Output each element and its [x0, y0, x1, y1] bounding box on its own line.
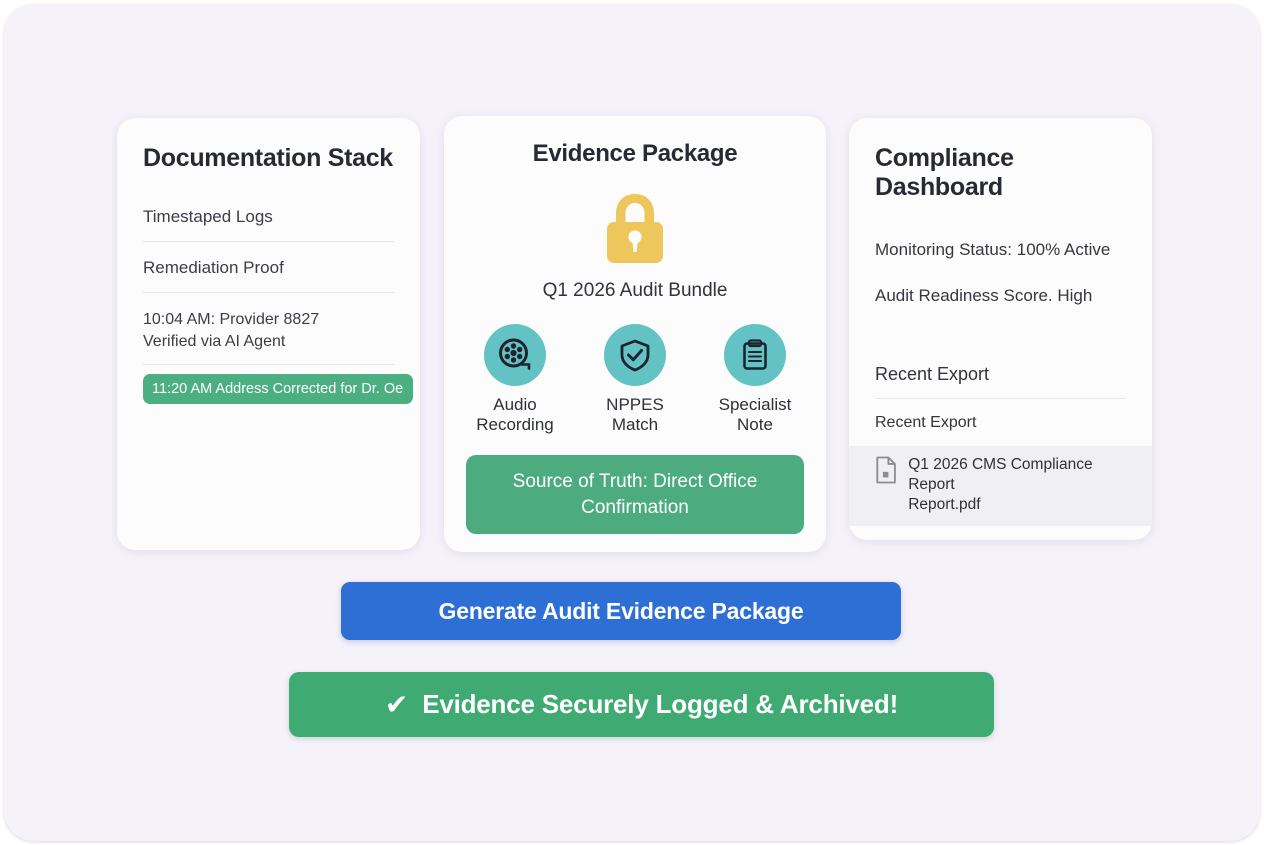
badge-label-line-2: Recording [476, 415, 554, 434]
generate-audit-evidence-package-button[interactable]: Generate Audit Evidence Package [341, 582, 901, 640]
documentation-note: 10:04 AM: Provider 8827 Verified via AI … [143, 309, 394, 365]
compliance-dashboard-card: Compliance Dashboard Monitoring Status: … [849, 118, 1152, 540]
recent-export-heading: Recent Export [875, 364, 1126, 399]
recent-export-file-row[interactable]: Q1 2026 CMS Compliance Report Report.pdf [849, 446, 1152, 526]
source-of-truth-banner: Source of Truth: Direct Office Confirmat… [466, 455, 804, 534]
audit-bundle-label: Q1 2026 Audit Bundle [466, 280, 804, 302]
evidence-archived-status-button[interactable]: ✔ Evidence Securely Logged & Archived! [289, 672, 994, 737]
evidence-badge-label: Audio Recording [469, 395, 561, 435]
status-badge-address-corrected: 11:20 AM Address Corrected for Dr. Oe [143, 374, 413, 404]
film-reel-icon [498, 338, 532, 372]
badge-circle [604, 324, 666, 386]
documentation-note-line-1: 10:04 AM: Provider 8827 [143, 309, 394, 331]
evidence-badge-audio-recording[interactable]: Audio Recording [469, 324, 561, 435]
lock-icon [598, 188, 672, 266]
documentation-stack-title: Documentation Stack [143, 144, 394, 173]
recent-export-file-name: Q1 2026 CMS Compliance Report Report.pdf [908, 455, 1126, 515]
evidence-package-card: Evidence Package Q1 2026 Audit Bundle [444, 116, 826, 552]
list-item-timestamped-logs[interactable]: Timestaped Logs [143, 207, 394, 242]
cards-row: Documentation Stack Timestaped Logs Reme… [4, 116, 1260, 552]
file-name-line-2: Report.pdf [908, 495, 1126, 515]
file-name-line-1: Q1 2026 CMS Compliance Report [908, 455, 1126, 495]
evidence-badge-nppes-match[interactable]: NPPES Match [589, 324, 681, 435]
badge-circle [724, 324, 786, 386]
compliance-dashboard-title: Compliance Dashboard [875, 144, 1126, 202]
lock-icon-wrap [466, 188, 804, 266]
source-of-truth-line-1: Source of Truth: Direct [513, 471, 703, 492]
documentation-stack-card: Documentation Stack Timestaped Logs Reme… [117, 118, 420, 550]
badge-label-line-1: Audio [493, 395, 536, 414]
check-icon: ✔ [385, 688, 408, 721]
metric-monitoring-status: Monitoring Status: 100% Active [875, 240, 1126, 260]
badge-label-line-2: Match [612, 415, 658, 434]
evidence-badge-row: Audio Recording NPPES Match [466, 324, 804, 435]
recent-export-subheading: Recent Export [875, 414, 1126, 446]
evidence-badge-specialist-note[interactable]: Specialist Note [709, 324, 801, 435]
evidence-archived-label: Evidence Securely Logged & Archived! [422, 689, 898, 720]
list-item-remediation-proof[interactable]: Remediation Proof [143, 258, 394, 293]
documentation-note-line-2: Verified via AI Agent [143, 331, 394, 353]
evidence-badge-label: Specialist Note [709, 395, 801, 435]
badge-label-line-1: Specialist [719, 395, 792, 414]
badge-label-line-2: Note [737, 415, 773, 434]
app-frame: Documentation Stack Timestaped Logs Reme… [4, 4, 1260, 841]
badge-circle [484, 324, 546, 386]
badge-label-line-1: NPPES [606, 395, 664, 414]
documentation-list: Timestaped Logs Remediation Proof 10:04 … [143, 207, 394, 404]
clipboard-icon [738, 338, 772, 372]
shield-check-icon [618, 338, 652, 372]
metric-audit-readiness-score: Audit Readiness Score. High [875, 286, 1126, 306]
evidence-badge-label: NPPES Match [589, 395, 681, 435]
document-file-icon [875, 455, 897, 485]
evidence-package-title: Evidence Package [466, 140, 804, 168]
